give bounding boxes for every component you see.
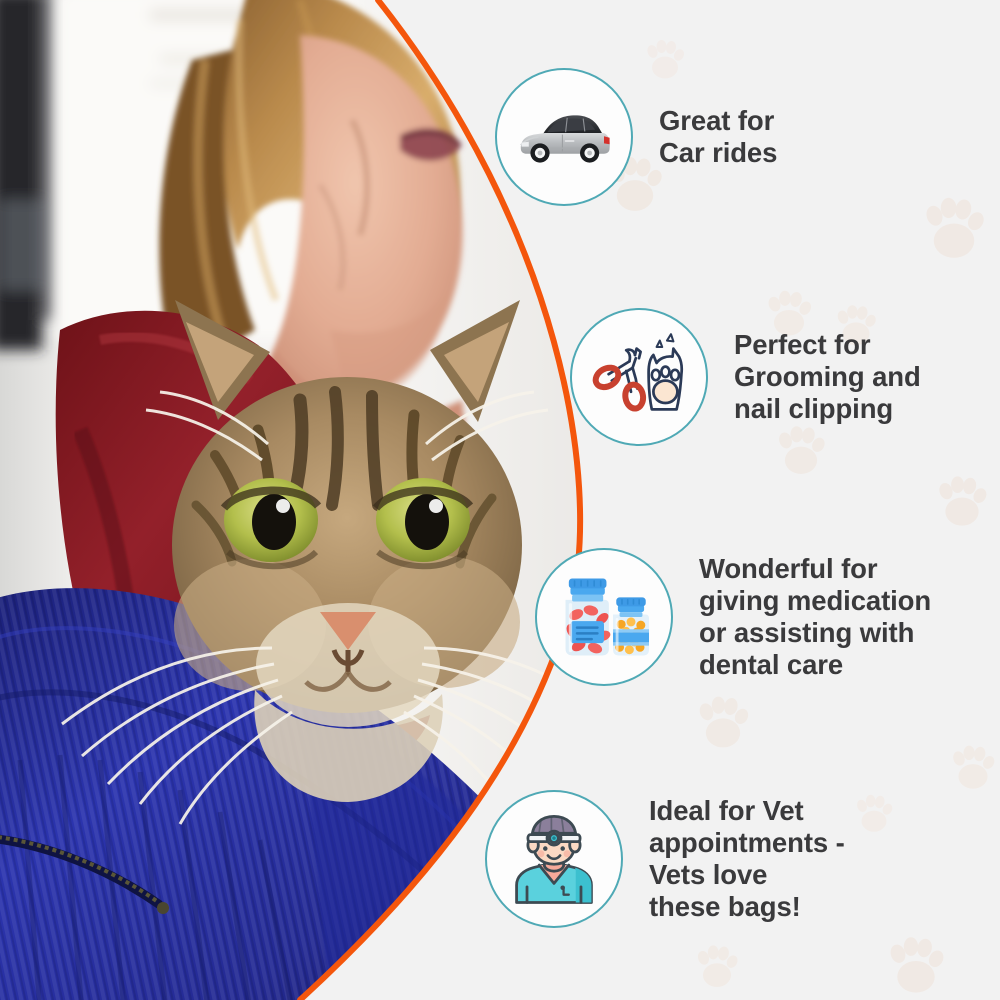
feature-label: Wonderful for giving medication or assis… — [699, 553, 931, 681]
car-icon — [516, 106, 612, 168]
feature-icon-circle — [485, 790, 623, 928]
feature-icon-circle — [535, 548, 673, 686]
feature-list: Great for Car rides — [470, 0, 1000, 1000]
infographic-canvas: Great for Car rides — [0, 0, 1000, 1000]
door-frame — [0, 0, 56, 350]
veterinarian-icon — [506, 812, 602, 906]
feature-item-vet-visits[interactable]: Ideal for Vet appointments - Vets love t… — [485, 790, 845, 928]
feature-label: Great for Car rides — [659, 105, 777, 169]
nail-clippers-paw-icon — [591, 331, 687, 423]
feature-item-grooming[interactable]: Perfect for Grooming and nail clipping — [570, 308, 921, 446]
feature-label: Perfect for Grooming and nail clipping — [734, 329, 921, 425]
large-pill-bottle — [564, 579, 611, 656]
feature-icon-circle — [495, 68, 633, 206]
feature-item-car-rides[interactable]: Great for Car rides — [495, 68, 777, 206]
feature-icon-circle — [570, 308, 708, 446]
feature-label: Ideal for Vet appointments - Vets love t… — [649, 795, 845, 923]
small-pill-bottle — [613, 597, 649, 655]
feature-item-medication[interactable]: Wonderful for giving medication or assis… — [535, 548, 931, 686]
medicine-bottles-icon — [554, 572, 654, 662]
